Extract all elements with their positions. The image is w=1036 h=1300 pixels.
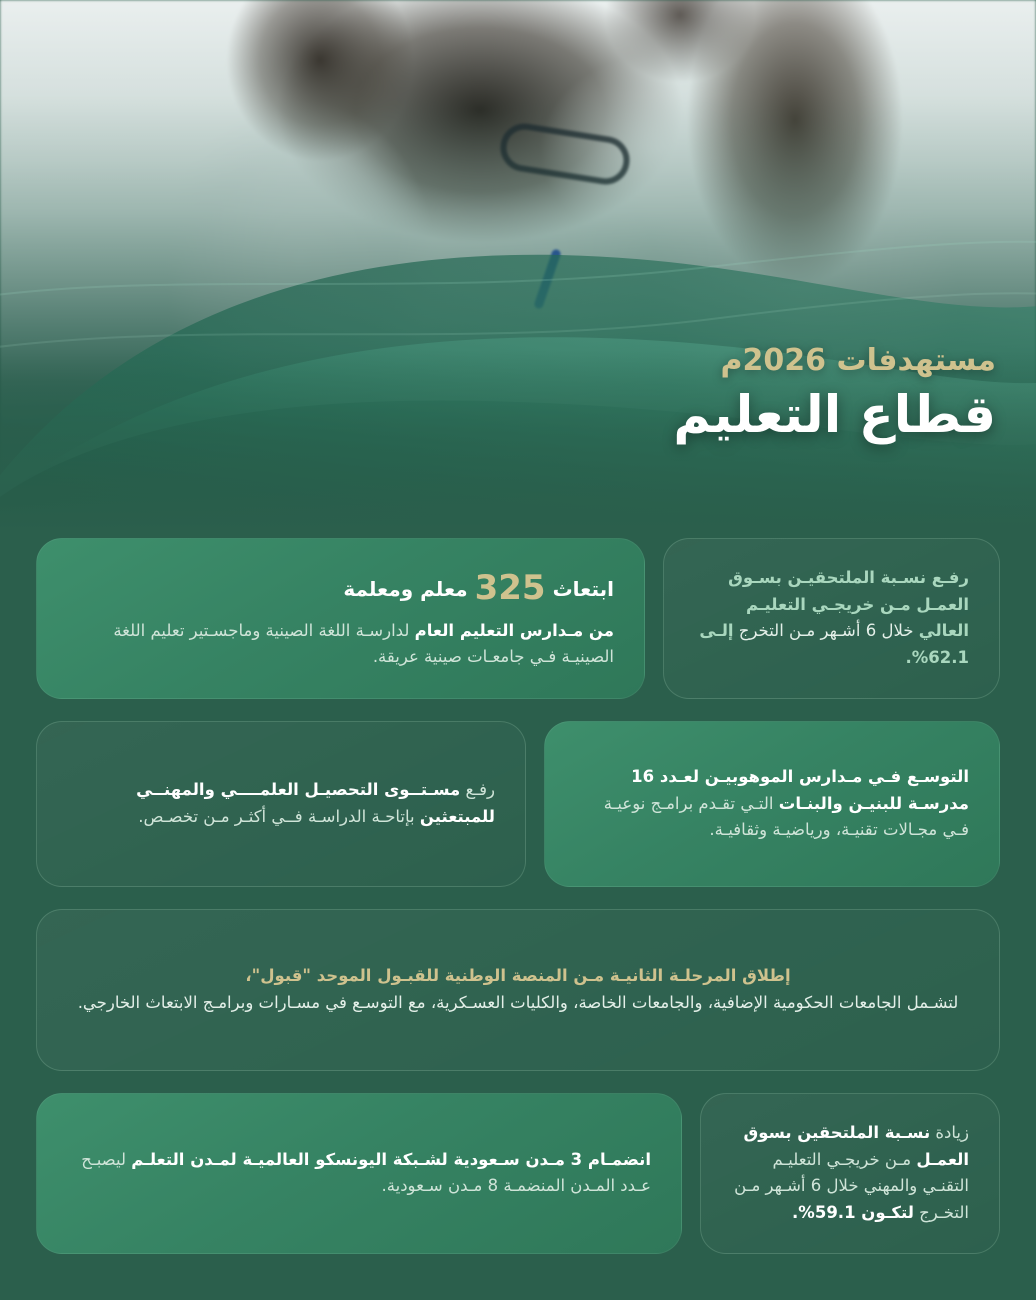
tvet-value: لتكـون 59.1% (798, 1203, 914, 1222)
card-gifted-schools[interactable]: التوسـع فـي مـدارس الموهوبيـن لعـدد 16 م… (544, 721, 1000, 887)
cards-grid: رفـع نسـبة الملتحقيـن بسـوق العمـل مـن خ… (0, 538, 1036, 1276)
card-row-4: زيادة نسـبة الملتحقين بسوق العمـل مـن خر… (36, 1093, 1000, 1254)
eyebrow-label: مستهدفات 2026م (673, 344, 996, 377)
achievement-rest: بإتاحـة الدراسـة فــي أكثـر مـن تخصـص. (138, 807, 414, 826)
admission-rest: لتشـمل الجامعات الحكومية الإضافية، والجا… (78, 993, 959, 1012)
card-gifted-schools-text: التوسـع فـي مـدارس الموهوبيـن لعـدد 16 م… (575, 764, 969, 844)
tvet-plain-1: زيادة (935, 1123, 969, 1142)
card-higher-ed-employment[interactable]: رفـع نسـبة الملتحقيـن بسـوق العمـل مـن خ… (663, 538, 1000, 699)
card-tvet-employment-text: زيادة نسـبة الملتحقين بسوق العمـل مـن خر… (731, 1120, 969, 1227)
card-row-1: رفـع نسـبة الملتحقيـن بسـوق العمـل مـن خ… (36, 538, 1000, 699)
market-plain: خلال 6 أشـهر مـن التخرج (739, 621, 914, 640)
scholarship-lead: ابتعاث 325 معلم ومعلمة (67, 566, 614, 612)
card-unified-admission-platform[interactable]: إطلاق المرحلـة الثانيـة مـن المنصة الوطن… (36, 909, 1000, 1071)
admission-gold-line: إطلاق المرحلـة الثانيـة مـن المنصة الوطن… (67, 963, 969, 990)
scholarship-body-bold: من مـدارس التعليم العام (415, 621, 614, 640)
market-mint-2: العمـل مـن خريجـي التعليـم (746, 595, 969, 614)
card-china-scholarship-text: ابتعاث 325 معلم ومعلمة من مـدارس التعليم… (67, 566, 614, 671)
card-unesco-learning-cities[interactable]: انضمـام 3 مـدن سـعودية لشـبكة اليونسكو ا… (36, 1093, 682, 1254)
page-title: قطاع التعليم (673, 387, 996, 444)
card-unesco-learning-cities-text: انضمـام 3 مـدن سـعودية لشـبكة اليونسكو ا… (67, 1147, 651, 1200)
title-block: مستهدفات 2026م قطاع التعليم (673, 344, 996, 444)
card-row-2: التوسـع فـي مـدارس الموهوبيـن لعـدد 16 م… (36, 721, 1000, 887)
market-mint-3: العالي (919, 621, 969, 640)
scholarship-suffix: معلم ومعلمة (343, 577, 467, 601)
card-row-3: إطلاق المرحلـة الثانيـة مـن المنصة الوطن… (36, 909, 1000, 1071)
unesco-bold: انضمـام 3 مـدن سـعودية لشـبكة اليونسكو ا… (131, 1150, 651, 1169)
card-scholar-achievement[interactable]: رفـع مسـتــوى التحصيـل العلمــــي والمهن… (36, 721, 526, 887)
scholarship-number: 325 (475, 568, 546, 608)
hero-photo-section (0, 0, 1036, 530)
market-mint-1: رفـع نسـبة الملتحقيـن بسـوق (728, 568, 969, 587)
card-unified-admission-platform-text: إطلاق المرحلـة الثانيـة مـن المنصة الوطن… (67, 963, 969, 1016)
achievement-plain: رفـع (466, 780, 495, 799)
card-scholar-achievement-text: رفـع مسـتــوى التحصيـل العلمــــي والمهن… (67, 777, 495, 830)
card-tvet-employment[interactable]: زيادة نسـبة الملتحقين بسوق العمـل مـن خر… (700, 1093, 1000, 1254)
scholarship-prefix: ابتعاث (553, 577, 614, 601)
infographic-root: مستهدفات 2026م قطاع التعليم رفـع نسـبة ا… (0, 0, 1036, 1300)
card-china-scholarship[interactable]: ابتعاث 325 معلم ومعلمة من مـدارس التعليم… (36, 538, 645, 699)
card-higher-ed-employment-text: رفـع نسـبة الملتحقيـن بسـوق العمـل مـن خ… (694, 565, 969, 672)
